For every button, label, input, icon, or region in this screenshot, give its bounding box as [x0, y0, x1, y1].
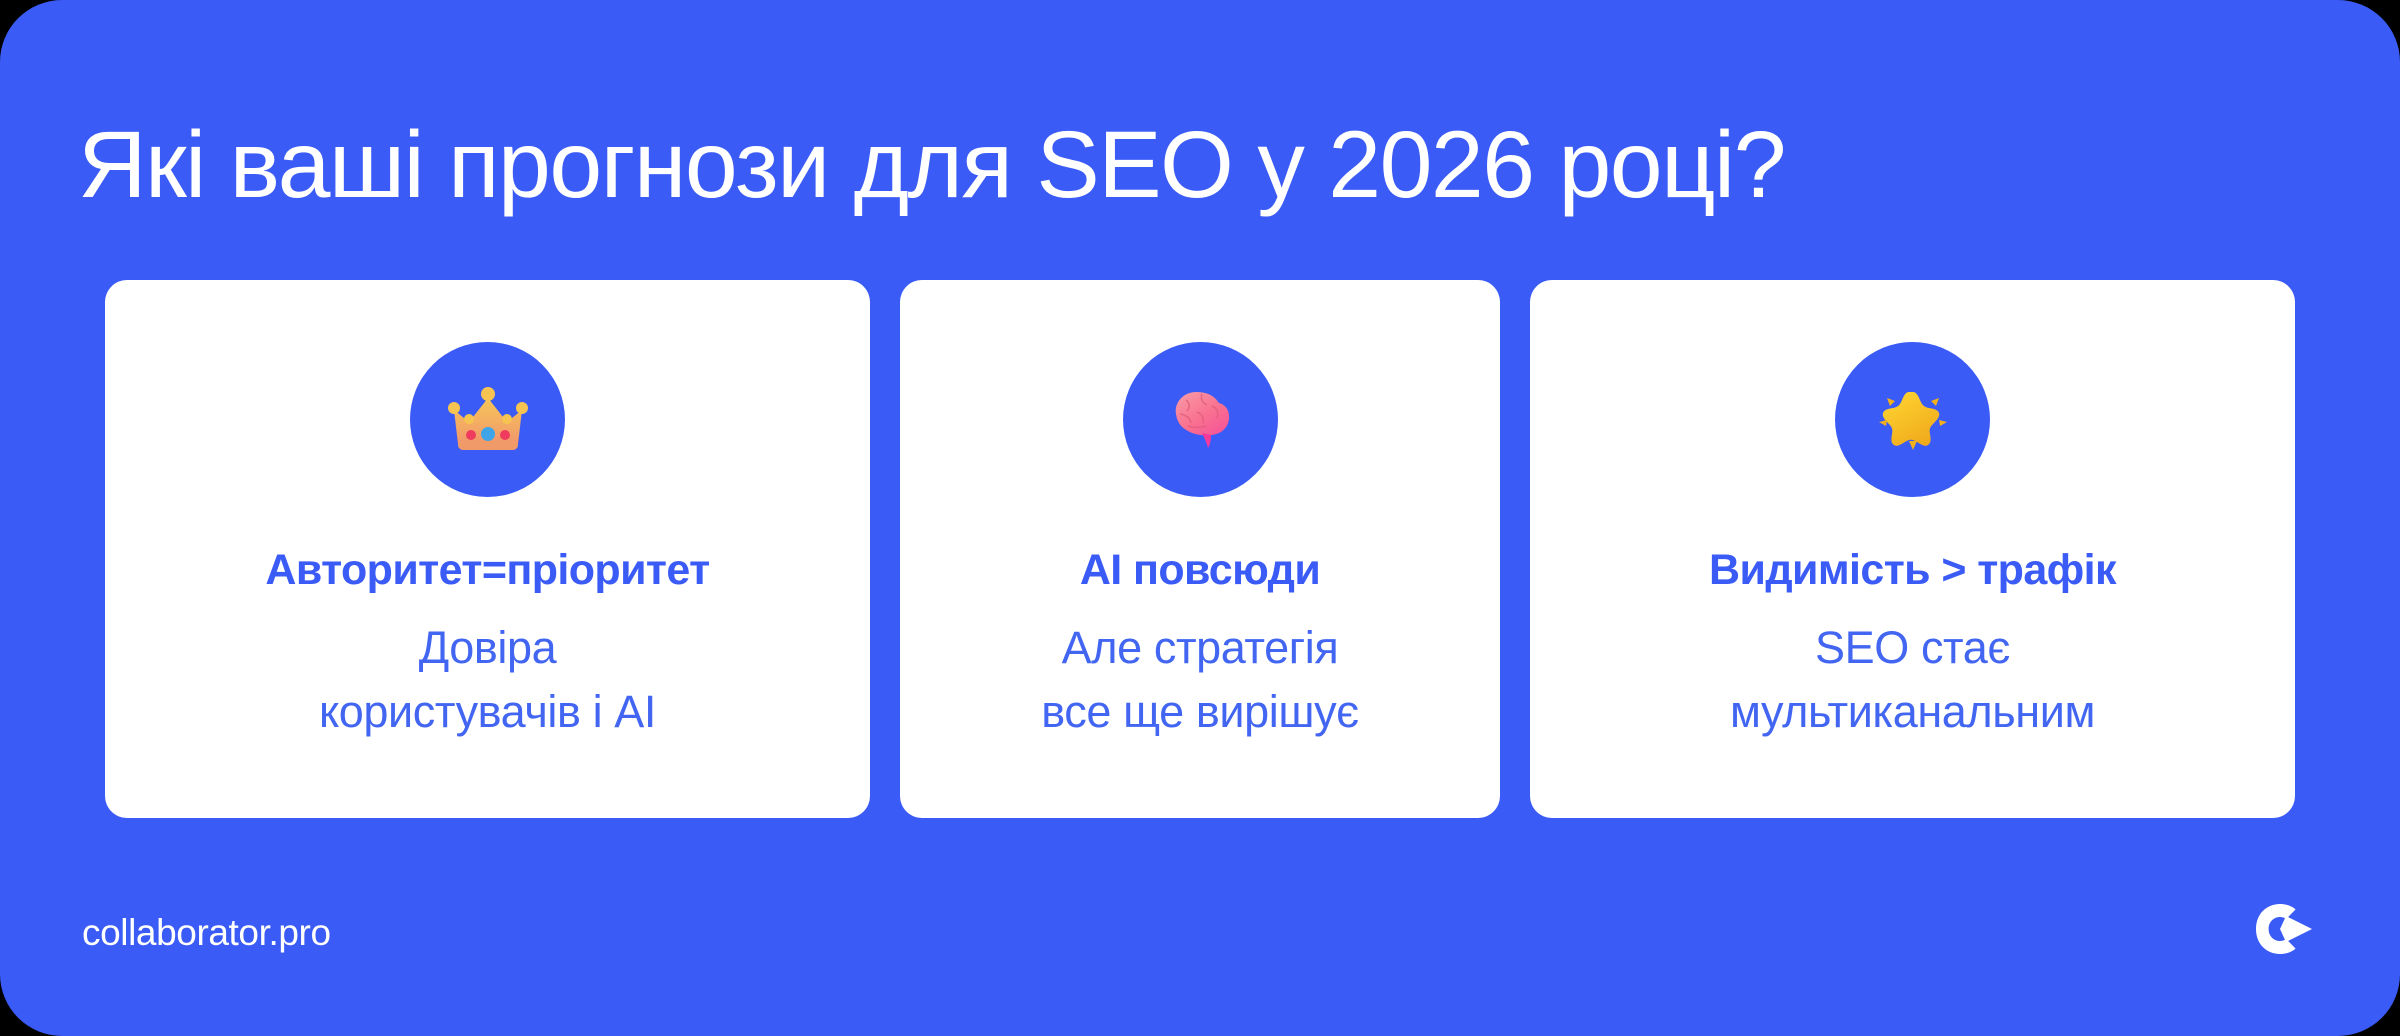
- prediction-cards: Авторитет=пріоритет Довіра користувачів …: [105, 280, 2295, 818]
- card-body: SEO стає мультиканальним: [1704, 616, 2121, 744]
- card-body: Довіра користувачів і AI: [293, 616, 682, 744]
- card-body-line: користувачів і AI: [319, 680, 656, 744]
- collaborator-logo: [2250, 900, 2316, 960]
- glowing-star-icon: [1835, 342, 1990, 497]
- card-body-line: SEO стає: [1730, 616, 2095, 680]
- crown-icon: [410, 342, 565, 497]
- prediction-card-2[interactable]: AI повсюди Але стратегія все ще вирішує: [900, 280, 1500, 818]
- prediction-card-3[interactable]: Видимість > трафік SEO стає мультиканаль…: [1530, 280, 2295, 818]
- card-body-line: мультиканальним: [1730, 680, 2095, 744]
- brain-icon: [1123, 342, 1278, 497]
- card-title: Видимість > трафік: [1709, 547, 2116, 594]
- card-body-line: Але стратегія: [1041, 616, 1359, 680]
- card-body: Але стратегія все ще вирішує: [1015, 616, 1385, 744]
- footer-site-url: collaborator.pro: [82, 912, 331, 954]
- card-title: Авторитет=пріоритет: [265, 547, 709, 594]
- prediction-card-1[interactable]: Авторитет=пріоритет Довіра користувачів …: [105, 280, 870, 818]
- card-body-line: все ще вирішує: [1041, 680, 1359, 744]
- page-title: Які ваші прогнози для SEO у 2026 році?: [78, 108, 2278, 224]
- poster-canvas: Які ваші прогнози для SEO у 2026 році?: [0, 0, 2400, 1036]
- card-body-line: Довіра: [319, 616, 656, 680]
- card-title: AI повсюди: [1080, 547, 1320, 594]
